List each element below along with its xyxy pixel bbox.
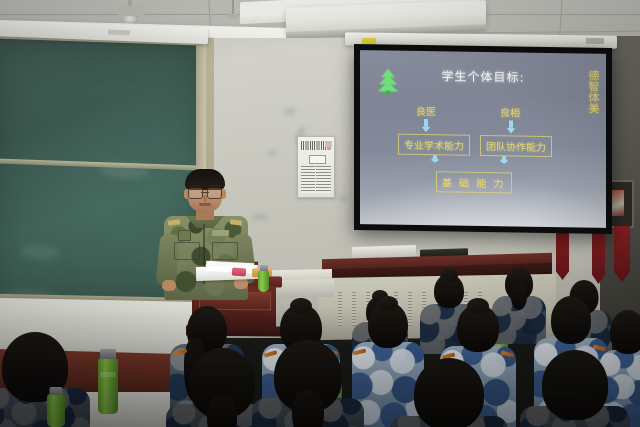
- water-bottle: [258, 270, 269, 292]
- slide-label-left: 良医: [416, 103, 436, 118]
- arrow-down-icon: [421, 119, 430, 126]
- arrow-head: [421, 126, 431, 132]
- slide-box-bottom: 基 础 能 力: [436, 171, 512, 193]
- slide-label-right: 良相: [500, 104, 520, 119]
- instructor-mouth: [199, 203, 211, 206]
- chalk-dust: [20, 244, 60, 259]
- student-hair-bun: [467, 298, 489, 314]
- arrow-up-icon: [430, 155, 439, 162]
- instructor-pocket-right: [212, 242, 238, 260]
- student-figure: [252, 340, 364, 427]
- student-hair-bun: [440, 268, 458, 282]
- red-banner: [614, 226, 630, 282]
- arrow-down-icon: [506, 120, 515, 127]
- student-head: [551, 296, 591, 344]
- student-hair-bun: [290, 298, 312, 314]
- instructor-name-tag: [212, 230, 229, 236]
- bottle-cap: [260, 265, 268, 271]
- arrow-head: [430, 155, 440, 161]
- instructor-hand-left: [162, 280, 176, 291]
- student-figure: [520, 350, 630, 427]
- presentation-slide: 学生个体目标: 德智体美 良医 良相 专业学术能力 团队协作能力: [360, 50, 606, 228]
- notice-title-box: [309, 155, 326, 164]
- instructor-pocket-left: [174, 242, 200, 260]
- ceiling-hook-bracket: [228, 14, 238, 19]
- ceiling-camera-icon: [118, 6, 144, 18]
- slide-box-left: 专业学术能力: [398, 134, 470, 156]
- slide-vertical-text: 德智体美: [584, 70, 600, 114]
- arrow-stem: [424, 119, 428, 126]
- tree-trunk: [386, 90, 390, 95]
- warning-label-icon: [362, 38, 376, 44]
- arrow-head: [499, 156, 509, 162]
- student-ponytail: [292, 390, 324, 427]
- instructor-eyebrow-left: [190, 185, 200, 187]
- water-bottle: [47, 394, 65, 427]
- screen-housing-endcap: [586, 38, 604, 44]
- water-bottle: [98, 358, 118, 414]
- instructor-eyebrow-right: [210, 185, 220, 187]
- student-head: [414, 358, 484, 427]
- wall-smudge: [338, 196, 348, 201]
- student-ponytail: [207, 396, 237, 427]
- student-hair-bun: [378, 296, 398, 311]
- student-figure: [0, 332, 90, 427]
- notice-column-divider: [315, 166, 316, 193]
- arrow-up-icon: [499, 156, 508, 163]
- screen-roller-bracket: [108, 30, 130, 36]
- podium-object: [232, 268, 247, 277]
- eyeglasses-bridge: [201, 192, 209, 193]
- student-head: [610, 310, 640, 354]
- wall-smudge: [252, 214, 268, 220]
- slide-box-right: 团队协作能力: [480, 135, 552, 157]
- instructor-nose: [203, 195, 207, 202]
- student-head: [542, 350, 608, 420]
- projector-screen: 学生个体目标: 德智体美 良医 良相 专业学术能力 团队协作能力: [360, 50, 606, 228]
- notice-text-rows: [301, 166, 331, 193]
- arrow-head: [506, 127, 516, 133]
- bottle-cap: [100, 349, 116, 359]
- wall-notice-board: [297, 136, 335, 198]
- arrow-stem: [509, 120, 513, 127]
- student-figure: [390, 358, 508, 427]
- instructor-badge: [178, 230, 191, 241]
- red-banner: [556, 232, 569, 280]
- notice-tag: [325, 141, 332, 147]
- classroom-scene: 学生个体目标: 德智体美 良医 良相 专业学术能力 团队协作能力: [0, 0, 640, 427]
- wall-smudge: [268, 150, 277, 156]
- bottle-cap: [50, 387, 63, 395]
- bottle-ring: [100, 372, 116, 377]
- wall-smudge: [284, 108, 296, 115]
